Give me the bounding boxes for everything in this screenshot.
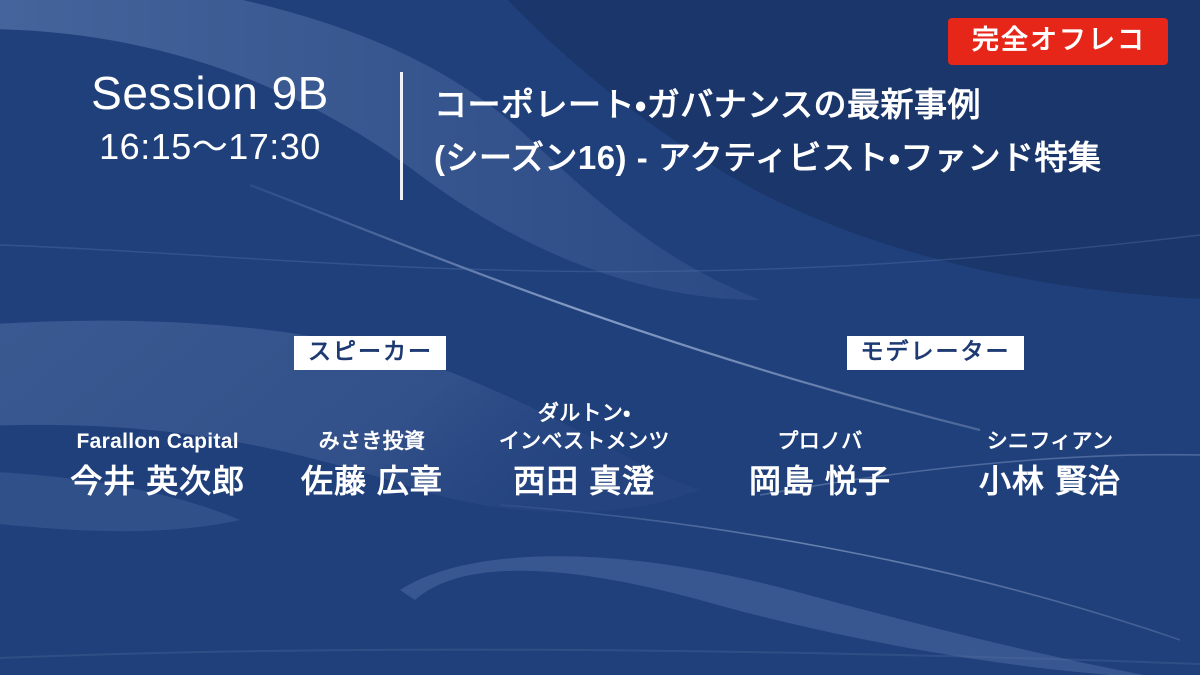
person-name: 今井 英次郎 [50,462,265,500]
person-name: 小林 賢治 [945,462,1155,500]
person-name: 佐藤 広章 [285,462,458,500]
slide-header: Session 9B 16:15〜17:30 コーポレート・ガバナンスの最新事例… [0,60,1200,210]
person-name: 岡島 悦子 [715,462,925,500]
affiliation-line-2: インベストメンツ [478,428,690,456]
status-badge: 完全オフレコ [948,18,1168,65]
affiliation: ダルトン・ インベストメンツ [478,400,690,455]
session-number: Session 9B [40,68,380,119]
page-title-line-2: (シーズン16) - アクティビスト・ファンド特集 [434,131,1164,184]
person-name: 西田 真澄 [478,462,690,500]
moderators-header-wrap: モデレーター [700,336,1170,370]
affiliation: みさき投資 [285,428,458,456]
list-item: プロノバ 岡島 悦子 [705,392,935,500]
vertical-divider [400,72,403,200]
speakers-group: スピーカー Farallon Capital 今井 英次郎 みさき投資 佐藤 広… [40,336,700,500]
list-item: みさき投資 佐藤 広章 [275,392,468,500]
speakers-header: スピーカー [294,336,446,370]
list-item: Farallon Capital 今井 英次郎 [40,392,275,500]
list-item: シニフィアン 小林 賢治 [935,392,1165,500]
affiliation: シニフィアン [945,428,1155,456]
session-title: コーポレート・ガバナンスの最新事例 (シーズン16) - アクティビスト・ファン… [434,78,1164,185]
affiliation-line-1: Farallon Capital [50,428,265,456]
session-time: 16:15〜17:30 [40,127,380,167]
affiliation-line-1: ダルトン・ [478,400,690,428]
moderators-list: プロノバ 岡島 悦子 シニフィアン 小林 賢治 [700,392,1170,500]
roles-section: スピーカー Farallon Capital 今井 英次郎 みさき投資 佐藤 広… [0,336,1200,536]
affiliation-line-1: シニフィアン [945,428,1155,456]
page-title-line-1: コーポレート・ガバナンスの最新事例 [434,78,1164,131]
affiliation: プロノバ [715,428,925,456]
speakers-header-wrap: スピーカー [40,336,700,370]
list-item: ダルトン・ インベストメンツ 西田 真澄 [468,392,700,500]
moderators-group: モデレーター プロノバ 岡島 悦子 シニフィアン 小林 賢治 [700,336,1170,500]
affiliation: Farallon Capital [50,428,265,456]
session-slide: 完全オフレコ Session 9B 16:15〜17:30 コーポレート・ガバナ… [0,0,1200,675]
moderators-header: モデレーター [847,336,1024,370]
affiliation-line-1: プロノバ [715,428,925,456]
speakers-list: Farallon Capital 今井 英次郎 みさき投資 佐藤 広章 ダルトン… [40,392,700,500]
session-info: Session 9B 16:15〜17:30 [40,68,380,166]
affiliation-line-1: みさき投資 [285,428,458,456]
